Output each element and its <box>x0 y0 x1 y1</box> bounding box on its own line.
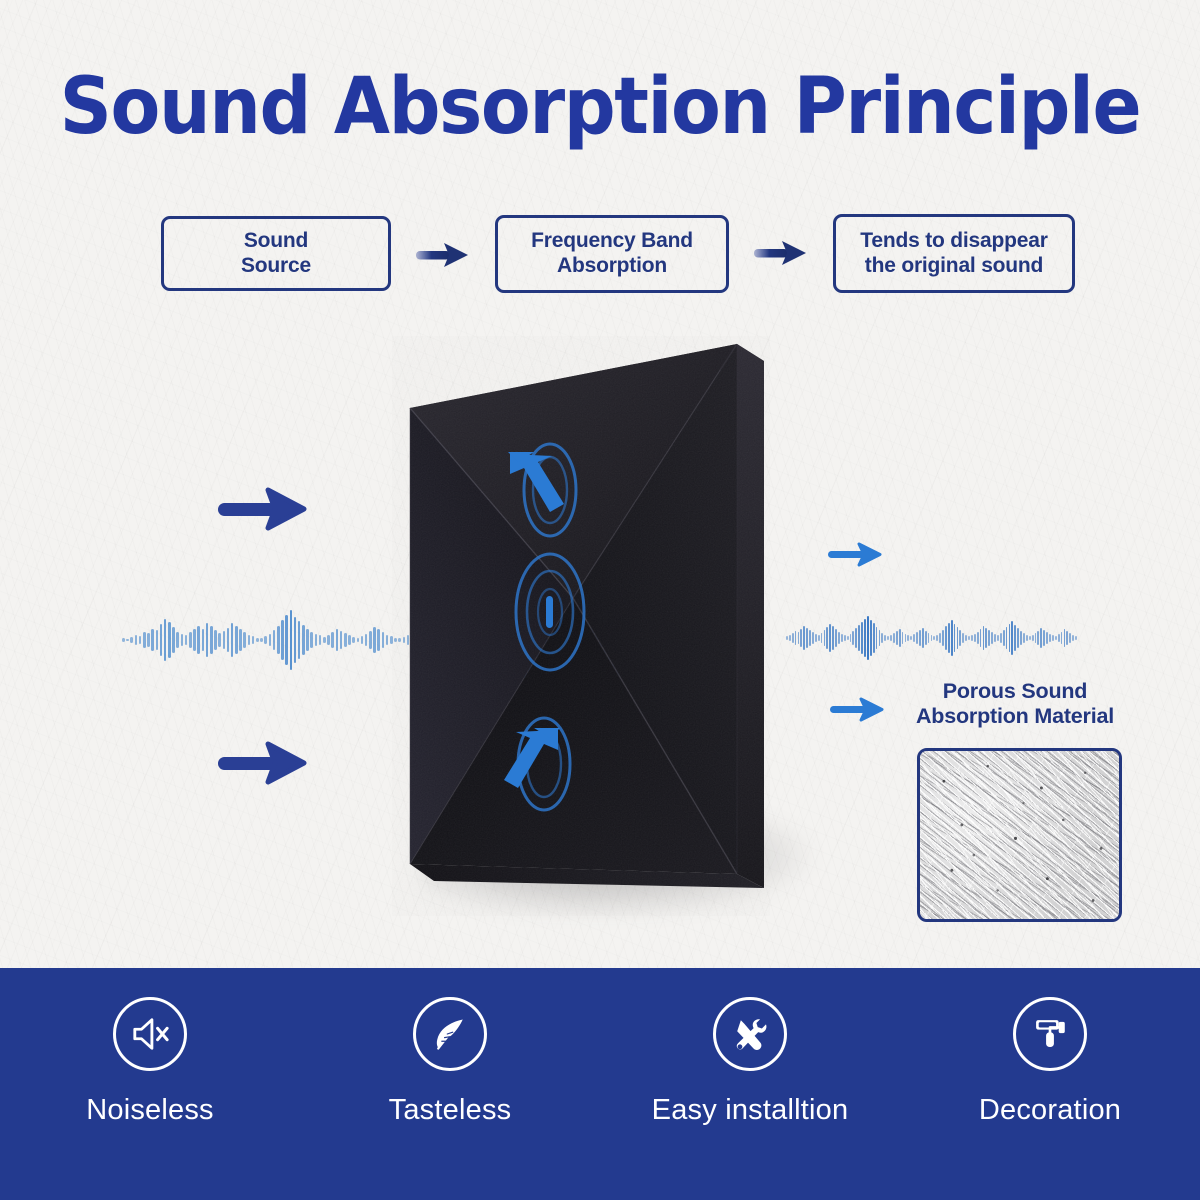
waveform-bar <box>214 630 217 650</box>
feature-label: Easy installtion <box>652 1094 849 1127</box>
waveform-bar <box>858 625 860 651</box>
waveform-bar <box>1000 633 1002 643</box>
waveform-bar <box>884 635 886 641</box>
waveform-bar <box>1023 633 1025 643</box>
waveform-bar <box>959 630 961 646</box>
waveform-bar <box>887 636 889 640</box>
waveform-bar <box>239 629 242 650</box>
waveform-bar <box>176 632 179 649</box>
waveform-bar <box>861 622 863 654</box>
waveform-bar <box>352 637 355 643</box>
flow-box-frequency-band-absorption[interactable]: Frequency Band Absorption <box>495 215 729 293</box>
waveform-bar <box>1061 632 1063 644</box>
waveform-bar <box>905 634 907 642</box>
waveform-bar <box>306 629 309 652</box>
waveform-bar <box>792 633 794 643</box>
waveform-bar <box>939 633 941 643</box>
waveform-bar <box>248 635 251 646</box>
waveform-bar <box>951 620 953 656</box>
process-flow: Sound Source Frequency Band Absorption T… <box>0 216 1200 296</box>
waveform-bar <box>139 636 142 644</box>
flow-box-tends-to-disappear[interactable]: Tends to disappear the original sound <box>833 214 1075 293</box>
waveform-bar <box>156 630 159 650</box>
waveform-bar <box>1075 636 1077 640</box>
arrow-right-icon <box>754 238 810 268</box>
waveform-bar <box>988 630 990 646</box>
waveform-bar <box>965 635 967 641</box>
waveform-bar <box>1009 624 1011 652</box>
feature-label: Decoration <box>979 1094 1121 1127</box>
waveform-bar <box>1049 634 1051 642</box>
waveform-bar <box>348 635 351 644</box>
incoming-arrow-bottom <box>218 739 310 787</box>
waveform-bar <box>160 624 163 656</box>
waveform-bar <box>365 634 368 646</box>
waveform-bar <box>971 635 973 641</box>
porous-material-label: Porous Sound Absorption Material <box>880 679 1150 730</box>
waveform-bar <box>235 626 238 653</box>
waveform-bar <box>942 630 944 646</box>
waveform-bar <box>135 635 138 646</box>
waveform-bar <box>1035 633 1037 643</box>
waveform-bar <box>1026 635 1028 641</box>
waveform-bar <box>336 629 339 652</box>
waveform-bar <box>298 621 301 659</box>
waveform-bar <box>954 624 956 652</box>
waveform-bar <box>382 632 385 647</box>
waveform-bar <box>876 627 878 649</box>
waveform-bar <box>1064 629 1066 647</box>
waveform-bar <box>983 626 985 650</box>
waveform-bar <box>1014 625 1016 651</box>
waveform-bar <box>936 635 938 641</box>
waveform-bar <box>824 630 826 646</box>
waveform-bar <box>899 629 901 647</box>
waveform-bar <box>164 619 167 661</box>
waveform-bar <box>800 629 802 647</box>
waveform-bar <box>826 627 828 649</box>
waveform-bar <box>803 626 805 650</box>
waveform-bar <box>252 636 255 644</box>
waveform-bar <box>913 634 915 642</box>
waveform-bar <box>1017 628 1019 648</box>
waveform-bar <box>991 632 993 644</box>
waveform-bar <box>277 626 280 655</box>
waveform-bar <box>185 635 188 644</box>
waveform-bar <box>945 626 947 650</box>
waveform-bar <box>832 626 834 650</box>
porous-label-line2: Absorption Material <box>916 704 1114 728</box>
waveform-bar <box>1032 635 1034 641</box>
flow-box-line2: Absorption <box>557 254 667 277</box>
waveform-bar <box>925 631 927 645</box>
waveform-bar <box>1046 632 1048 644</box>
waveform-bar <box>377 629 380 650</box>
waveform-bar <box>243 632 246 647</box>
waveform-bar <box>948 623 950 653</box>
waveform-bar <box>227 628 230 652</box>
waveform-bar <box>835 629 837 647</box>
waveform-bar <box>847 636 849 640</box>
waveform-bar <box>264 636 267 644</box>
waveform-bar <box>319 635 322 644</box>
waveform-bar <box>893 633 895 643</box>
flow-box-line2: the original sound <box>865 254 1043 277</box>
flow-box-sound-source[interactable]: Sound Source <box>161 216 391 291</box>
incoming-arrow-top <box>218 485 310 533</box>
attenuated-soundwave <box>786 615 1077 661</box>
waveform-bar <box>1040 628 1042 648</box>
feature-easy-installation[interactable]: Easy installtion <box>600 968 900 1127</box>
waveform-bar <box>181 634 184 646</box>
waveform-bar <box>850 634 852 642</box>
waveform-bar <box>369 631 372 649</box>
waveform-bar <box>273 630 276 650</box>
flow-box-line1: Sound <box>244 229 308 252</box>
waveform-bar <box>933 636 935 640</box>
waveform-bar <box>922 628 924 648</box>
waveform-bar <box>290 610 293 671</box>
waveform-bar <box>855 628 857 648</box>
waveform-bar <box>852 631 854 645</box>
waveform-bar <box>896 631 898 645</box>
feature-noiseless[interactable]: Noiseless <box>0 968 300 1127</box>
waveform-bar <box>890 635 892 641</box>
waveform-bar <box>373 627 376 653</box>
feather-icon <box>413 997 487 1071</box>
flow-box-line1: Frequency Band <box>531 229 693 252</box>
waveform-bar <box>302 625 305 655</box>
waveform-bar <box>879 630 881 646</box>
porous-label-line1: Porous Sound <box>943 679 1088 703</box>
flow-box-line1: Tends to disappear <box>860 229 1047 252</box>
waveform-bar <box>340 631 343 649</box>
feature-tasteless[interactable]: Tasteless <box>300 968 600 1127</box>
waveform-bar <box>122 638 125 641</box>
waveform-bar <box>812 632 814 644</box>
waveform-bar <box>994 634 996 642</box>
waveform-bar <box>1011 621 1013 655</box>
waveform-bar <box>130 637 133 643</box>
waveform-bar <box>997 635 999 641</box>
waveform-bar <box>206 623 209 658</box>
waveform-bar <box>269 634 272 646</box>
waveform-bar <box>202 629 205 652</box>
waveform-bar <box>968 636 970 640</box>
feature-label: Noiseless <box>86 1094 214 1127</box>
waveform-bar <box>931 635 933 641</box>
waveform-bar <box>310 632 313 649</box>
waveform-bar <box>907 635 909 641</box>
waveform-bar <box>974 634 976 642</box>
waveform-bar <box>1029 636 1031 640</box>
waveform-bar <box>147 633 150 647</box>
waveform-bar <box>172 627 175 653</box>
waveform-bar <box>126 639 129 642</box>
waveform-bar <box>962 633 964 643</box>
waveform-bar <box>1020 631 1022 645</box>
waveform-bar <box>1058 634 1060 642</box>
waveform-bar <box>1043 630 1045 646</box>
waveform-bar <box>323 637 326 643</box>
feature-bar: Noiseless Tasteless <box>0 968 1200 1200</box>
porous-material-swatch[interactable] <box>917 748 1122 922</box>
waveform-bar <box>256 638 259 643</box>
feature-label: Tasteless <box>389 1094 512 1127</box>
waveform-bar <box>344 633 347 647</box>
waveform-bar <box>818 635 820 641</box>
waveform-bar <box>798 632 800 644</box>
acoustic-foam-panel <box>392 336 792 916</box>
waveform-bar <box>189 632 192 647</box>
waveform-bar <box>821 633 823 643</box>
waveform-bar <box>864 619 866 657</box>
waveform-bar <box>867 616 869 660</box>
waveform-bar <box>260 638 263 641</box>
waveform-bar <box>838 632 840 644</box>
waveform-bar <box>916 632 918 644</box>
sound-ring-icon <box>516 554 584 670</box>
waveform-bar <box>844 635 846 641</box>
waveform-bar <box>870 620 872 656</box>
waveform-bar <box>795 631 797 645</box>
fiber-speckles <box>920 751 1119 919</box>
waveform-bar <box>294 617 297 664</box>
waveform-bar <box>1069 633 1071 643</box>
waveform-bar <box>881 633 883 643</box>
waveform-bar <box>829 624 831 652</box>
waveform-bar <box>1006 627 1008 649</box>
waveform-bar <box>1037 631 1039 645</box>
waveform-bar <box>928 633 930 643</box>
waveform-bar <box>315 634 318 646</box>
waveform-bar <box>327 635 330 646</box>
waveform-bar <box>977 632 979 644</box>
paint-roller-icon <box>1013 997 1087 1071</box>
waveform-bar <box>873 623 875 653</box>
waveform-bar <box>1055 636 1057 640</box>
waveform-bar <box>841 634 843 642</box>
waveform-bar <box>223 631 226 649</box>
tools-icon <box>713 997 787 1071</box>
waveform-bar <box>1052 635 1054 641</box>
arrow-right-icon <box>416 240 472 270</box>
waveform-bar <box>151 629 154 652</box>
waveform-bar <box>980 629 982 647</box>
waveform-bar <box>815 634 817 642</box>
waveform-bar <box>285 615 288 665</box>
waveform-bar <box>331 632 334 649</box>
waveform-bar <box>1003 630 1005 646</box>
waveform-bar <box>919 630 921 646</box>
waveform-bar <box>357 638 360 643</box>
waveform-bar <box>210 626 213 653</box>
waveform-bar <box>143 632 146 649</box>
waveform-bar <box>231 623 234 656</box>
mute-speaker-icon <box>113 997 187 1071</box>
waveform-bar <box>985 628 987 648</box>
outgoing-arrow-material <box>830 695 886 725</box>
outgoing-arrow-top <box>828 540 884 570</box>
waveform-bar <box>281 620 284 659</box>
page-title: Sound Absorption Principle <box>42 62 1158 152</box>
waveform-bar <box>809 630 811 646</box>
waveform-bar <box>1072 635 1074 641</box>
waveform-bar <box>197 626 200 655</box>
infographic-canvas: Sound Absorption Principle Sound Source … <box>0 0 1200 1200</box>
waveform-bar <box>168 622 171 658</box>
waveform-bar <box>218 633 221 647</box>
acoustic-panel-group <box>392 336 792 916</box>
waveform-bar <box>1066 631 1068 645</box>
waveform-bar <box>910 636 912 640</box>
waveform-bar <box>957 627 959 649</box>
flow-box-line2: Source <box>241 254 311 277</box>
waveform-bar <box>902 632 904 644</box>
waveform-bar <box>193 629 196 650</box>
waveform-bar <box>361 636 364 644</box>
feature-decoration[interactable]: Decoration <box>900 968 1200 1127</box>
waveform-bar <box>806 628 808 648</box>
waveform-bar <box>386 635 389 646</box>
